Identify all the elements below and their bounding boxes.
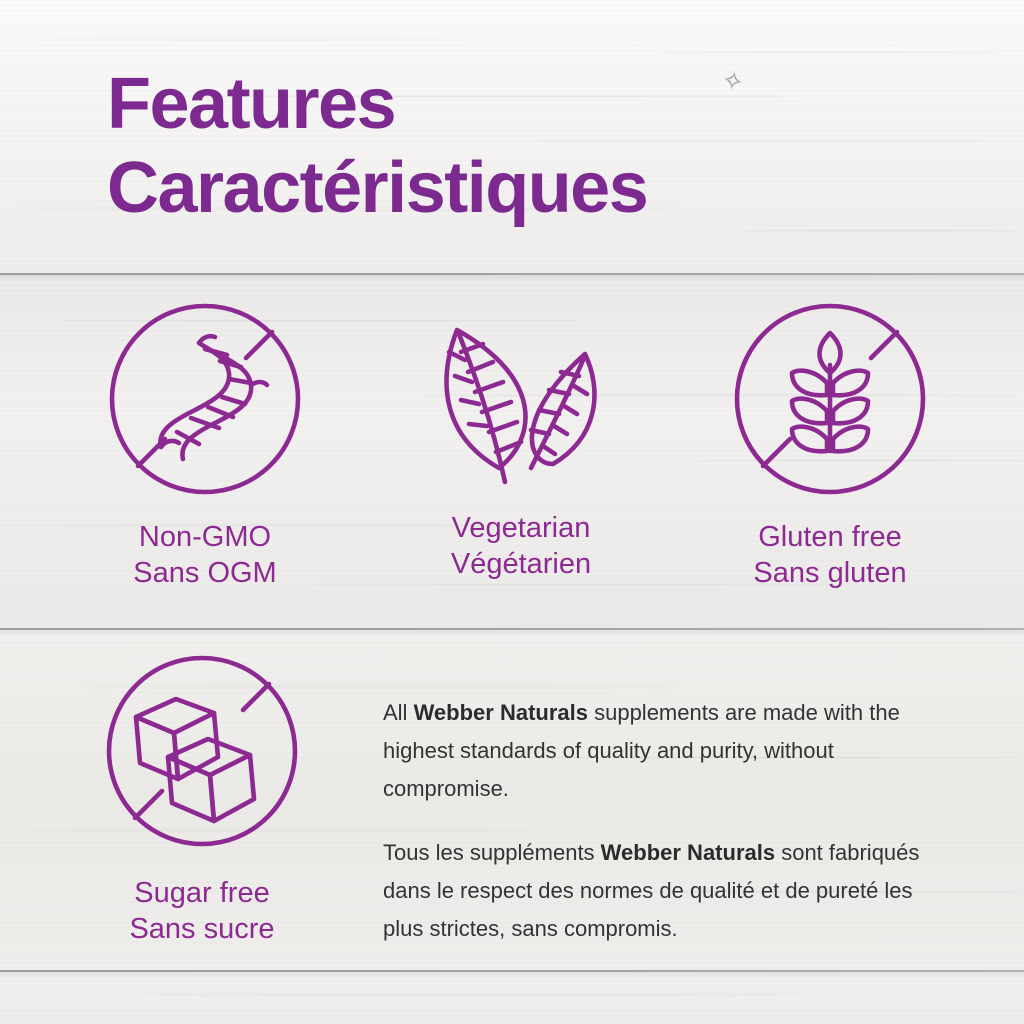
brand-copy-fr: Tous les suppléments Webber Naturals son… — [383, 834, 943, 948]
vegetarian-label-block: Vegetarian Végétarien — [371, 510, 671, 582]
sugar-free-label-block: Sugar free Sans sucre — [52, 875, 352, 947]
page-title-line-fr: Caractéristiques — [107, 146, 647, 230]
non-gmo-label-fr: Sans OGM — [55, 555, 355, 591]
plank-seam-2-highlight — [0, 630, 1024, 637]
page-title: Features Caractéristiques — [107, 62, 647, 230]
non-gmo-dna-no-symbol-icon — [105, 299, 305, 499]
feature-non-gmo: Non-GMO Sans OGM — [55, 296, 355, 591]
brand-copy-fr-prefix: Tous les suppléments — [383, 840, 601, 865]
gluten-free-label-en: Gluten free — [680, 519, 980, 555]
sugar-free-label-fr: Sans sucre — [52, 911, 352, 947]
gluten-free-icon-wrap — [680, 296, 980, 501]
vegetarian-label-fr: Végétarien — [371, 546, 671, 582]
sugar-free-label-en: Sugar free — [52, 875, 352, 911]
brand-copy: All Webber Naturals supplements are made… — [383, 694, 943, 948]
brand-copy-en: All Webber Naturals supplements are made… — [383, 694, 943, 808]
brand-name-en: Webber Naturals — [414, 700, 588, 725]
feature-sugar-free: Sugar free Sans sucre — [52, 648, 352, 947]
sugar-free-icon-wrap — [52, 648, 352, 853]
plank-seam-3-highlight — [0, 972, 1024, 979]
vegetarian-icon-wrap — [371, 296, 671, 496]
vegetarian-leaves-icon — [421, 296, 621, 496]
feature-gluten-free: Gluten free Sans gluten — [680, 296, 980, 591]
brand-copy-en-prefix: All — [383, 700, 414, 725]
plank-seam-1-highlight — [0, 275, 1024, 282]
sugar-free-cubes-no-symbol-icon — [102, 651, 302, 851]
non-gmo-label-block: Non-GMO Sans OGM — [55, 519, 355, 591]
gluten-free-label-fr: Sans gluten — [680, 555, 980, 591]
non-gmo-icon-wrap — [55, 296, 355, 501]
vegetarian-label-en: Vegetarian — [371, 510, 671, 546]
non-gmo-label-en: Non-GMO — [55, 519, 355, 555]
features-infographic: ✧ Features Caractéristiques — [0, 0, 1024, 1024]
gluten-free-label-block: Gluten free Sans gluten — [680, 519, 980, 591]
page-title-line-en: Features — [107, 62, 647, 146]
feature-vegetarian: Vegetarian Végétarien — [371, 296, 671, 582]
gluten-free-wheat-no-symbol-icon — [730, 299, 930, 499]
brand-name-fr: Webber Naturals — [601, 840, 775, 865]
